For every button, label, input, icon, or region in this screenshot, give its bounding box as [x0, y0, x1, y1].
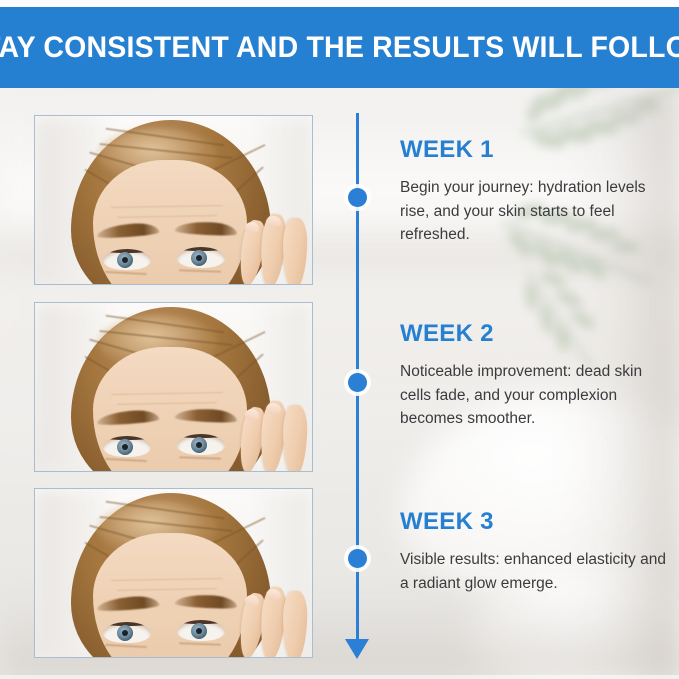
infographic-root: STAY CONSISTENT AND THE RESULTS WILL FOL…	[0, 0, 679, 679]
eye-right	[177, 247, 225, 268]
hand	[231, 220, 312, 284]
pupil-left	[122, 444, 128, 450]
step-week-2: WEEK 2 Noticeable improvement: dead skin…	[400, 320, 668, 431]
step-week-3: WEEK 3 Visible results: enhanced elastic…	[400, 508, 668, 595]
header-banner: STAY CONSISTENT AND THE RESULTS WILL FOL…	[0, 7, 679, 88]
step-description: Noticeable improvement: dead skin cells …	[400, 360, 668, 431]
hand	[231, 593, 312, 657]
eye-right	[177, 620, 225, 641]
progress-photo-week-2	[34, 302, 313, 472]
portrait-illustration	[35, 303, 312, 471]
step-description: Begin your journey: hydration levels ris…	[400, 176, 668, 247]
week-1-marker	[348, 188, 367, 207]
page-title: STAY CONSISTENT AND THE RESULTS WILL FOL…	[0, 31, 679, 65]
step-description: Visible results: enhanced elasticity and…	[400, 548, 668, 595]
hand	[231, 407, 312, 471]
step-title: WEEK 3	[400, 508, 668, 536]
pupil-left	[122, 257, 128, 263]
step-title: WEEK 2	[400, 320, 668, 348]
step-week-1: WEEK 1 Begin your journey: hydration lev…	[400, 136, 668, 247]
pupil-left	[122, 630, 128, 636]
top-white-strip	[0, 0, 679, 7]
step-title: WEEK 1	[400, 136, 668, 164]
before-photo-week-1	[34, 115, 313, 285]
eye-right	[177, 434, 225, 455]
week-3-marker	[348, 549, 367, 568]
pupil-right	[196, 255, 202, 261]
bottom-white-strip	[0, 675, 679, 679]
portrait-illustration	[35, 489, 312, 657]
week-2-marker	[348, 373, 367, 392]
after-photo-week-3	[34, 488, 313, 658]
portrait-illustration	[35, 116, 312, 284]
pupil-right	[196, 442, 202, 448]
eye-left	[103, 622, 151, 643]
eye-left	[103, 249, 151, 270]
eye-left	[103, 436, 151, 457]
pupil-right	[196, 628, 202, 634]
arrow-down-icon	[345, 639, 369, 659]
